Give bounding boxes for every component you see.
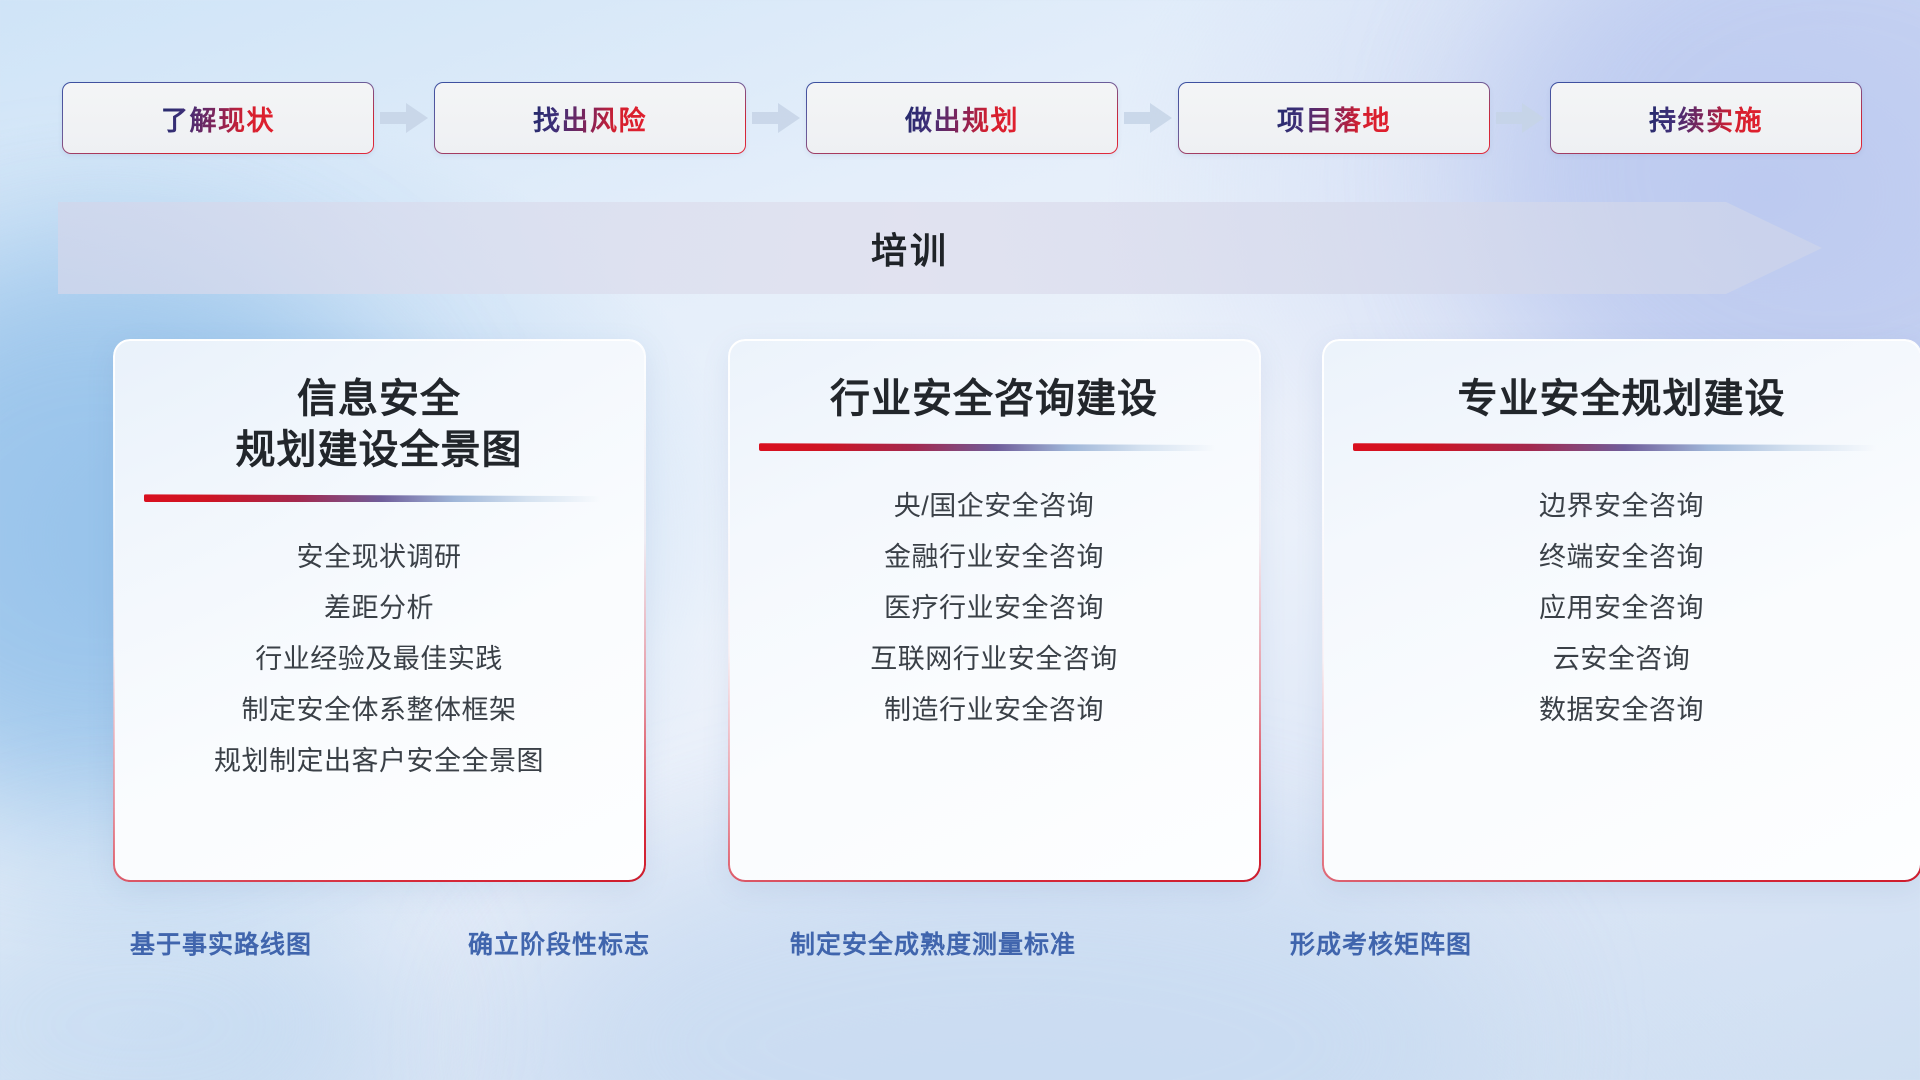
service-card-1[interactable]: 信息安全 规划建设全景图 安全现状调研 差距分析 行业经验及最佳实践 制定安全体… [114, 340, 644, 880]
right-arrow-icon [374, 82, 434, 154]
step-label-1: 了解现状 [161, 99, 275, 138]
step-box-4[interactable]: 项目落地 [1178, 82, 1490, 154]
step-box-1[interactable]: 了解现状 [62, 82, 374, 154]
list-item: 金融行业安全咨询 [751, 532, 1237, 583]
service-card-2[interactable]: 行业安全咨询建设 央/国企安全咨询 金融行业安全咨询 医疗行业安全咨询 互联网行… [729, 340, 1259, 880]
card-list-1: 安全现状调研 差距分析 行业经验及最佳实践 制定安全体系整体框架 规划制定出客户… [114, 532, 644, 787]
list-item: 数据安全咨询 [1345, 685, 1898, 736]
step-box-5[interactable]: 持续实施 [1550, 82, 1862, 154]
training-banner-label: 培训 [58, 202, 1762, 294]
list-item: 制造行业安全咨询 [751, 685, 1237, 736]
card-list-2: 央/国企安全咨询 金融行业安全咨询 医疗行业安全咨询 互联网行业安全咨询 制造行… [729, 481, 1259, 736]
card-divider-3 [1353, 443, 1876, 451]
list-item: 互联网行业安全咨询 [751, 634, 1237, 685]
list-item: 制定安全体系整体框架 [136, 685, 622, 736]
list-item: 规划制定出客户安全全景图 [136, 736, 622, 787]
card-divider-2 [759, 443, 1215, 451]
card-wrapper-1: 信息安全 规划建设全景图 安全现状调研 差距分析 行业经验及最佳实践 制定安全体… [114, 340, 644, 880]
bottom-caption-4: 形成考核矩阵图 [1290, 925, 1472, 961]
list-item: 终端安全咨询 [1345, 532, 1898, 583]
bottom-caption-2: 确立阶段性标志 [468, 925, 650, 961]
bottom-captions: 基于事实路线图 确立阶段性标志 制定安全成熟度测量标准 形成考核矩阵图 [0, 925, 1920, 977]
bottom-caption-3: 制定安全成熟度测量标准 [790, 925, 1076, 961]
card-wrapper-3: 专业安全规划建设 边界安全咨询 终端安全咨询 应用安全咨询 云安全咨询 数据安全… [1323, 340, 1920, 880]
list-item: 行业经验及最佳实践 [136, 634, 622, 685]
bottom-caption-1: 基于事实路线图 [130, 925, 312, 961]
list-item: 云安全咨询 [1345, 634, 1898, 685]
list-item: 央/国企安全咨询 [751, 481, 1237, 532]
list-item: 差距分析 [136, 583, 622, 634]
step-box-2[interactable]: 找出风险 [434, 82, 746, 154]
right-arrow-icon [1118, 82, 1178, 154]
step-label-3: 做出规划 [905, 99, 1019, 138]
list-item: 安全现状调研 [136, 532, 622, 583]
training-banner: 培训 [58, 202, 1822, 294]
step-box-3[interactable]: 做出规划 [806, 82, 1118, 154]
step-label-2: 找出风险 [533, 99, 647, 138]
right-arrow-icon [1490, 82, 1550, 154]
service-card-3[interactable]: 专业安全规划建设 边界安全咨询 终端安全咨询 应用安全咨询 云安全咨询 数据安全… [1323, 340, 1920, 880]
card-divider-1 [144, 494, 600, 502]
card-title-2: 行业安全咨询建设 [729, 340, 1259, 425]
card-title-3: 专业安全规划建设 [1323, 340, 1920, 425]
list-item: 医疗行业安全咨询 [751, 583, 1237, 634]
process-step-flow: 了解现状 找出风险 做出规划 项目落地 持续实施 [62, 82, 1862, 154]
step-label-4: 项目落地 [1277, 99, 1391, 138]
list-item: 应用安全咨询 [1345, 583, 1898, 634]
card-list-3: 边界安全咨询 终端安全咨询 应用安全咨询 云安全咨询 数据安全咨询 [1323, 481, 1920, 736]
service-cards-row: 信息安全 规划建设全景图 安全现状调研 差距分析 行业经验及最佳实践 制定安全体… [0, 340, 1920, 900]
step-label-5: 持续实施 [1649, 99, 1763, 138]
card-title-1: 信息安全 规划建设全景图 [114, 340, 644, 476]
list-item: 边界安全咨询 [1345, 481, 1898, 532]
right-arrow-icon [746, 82, 806, 154]
card-wrapper-2: 行业安全咨询建设 央/国企安全咨询 金融行业安全咨询 医疗行业安全咨询 互联网行… [729, 340, 1259, 880]
